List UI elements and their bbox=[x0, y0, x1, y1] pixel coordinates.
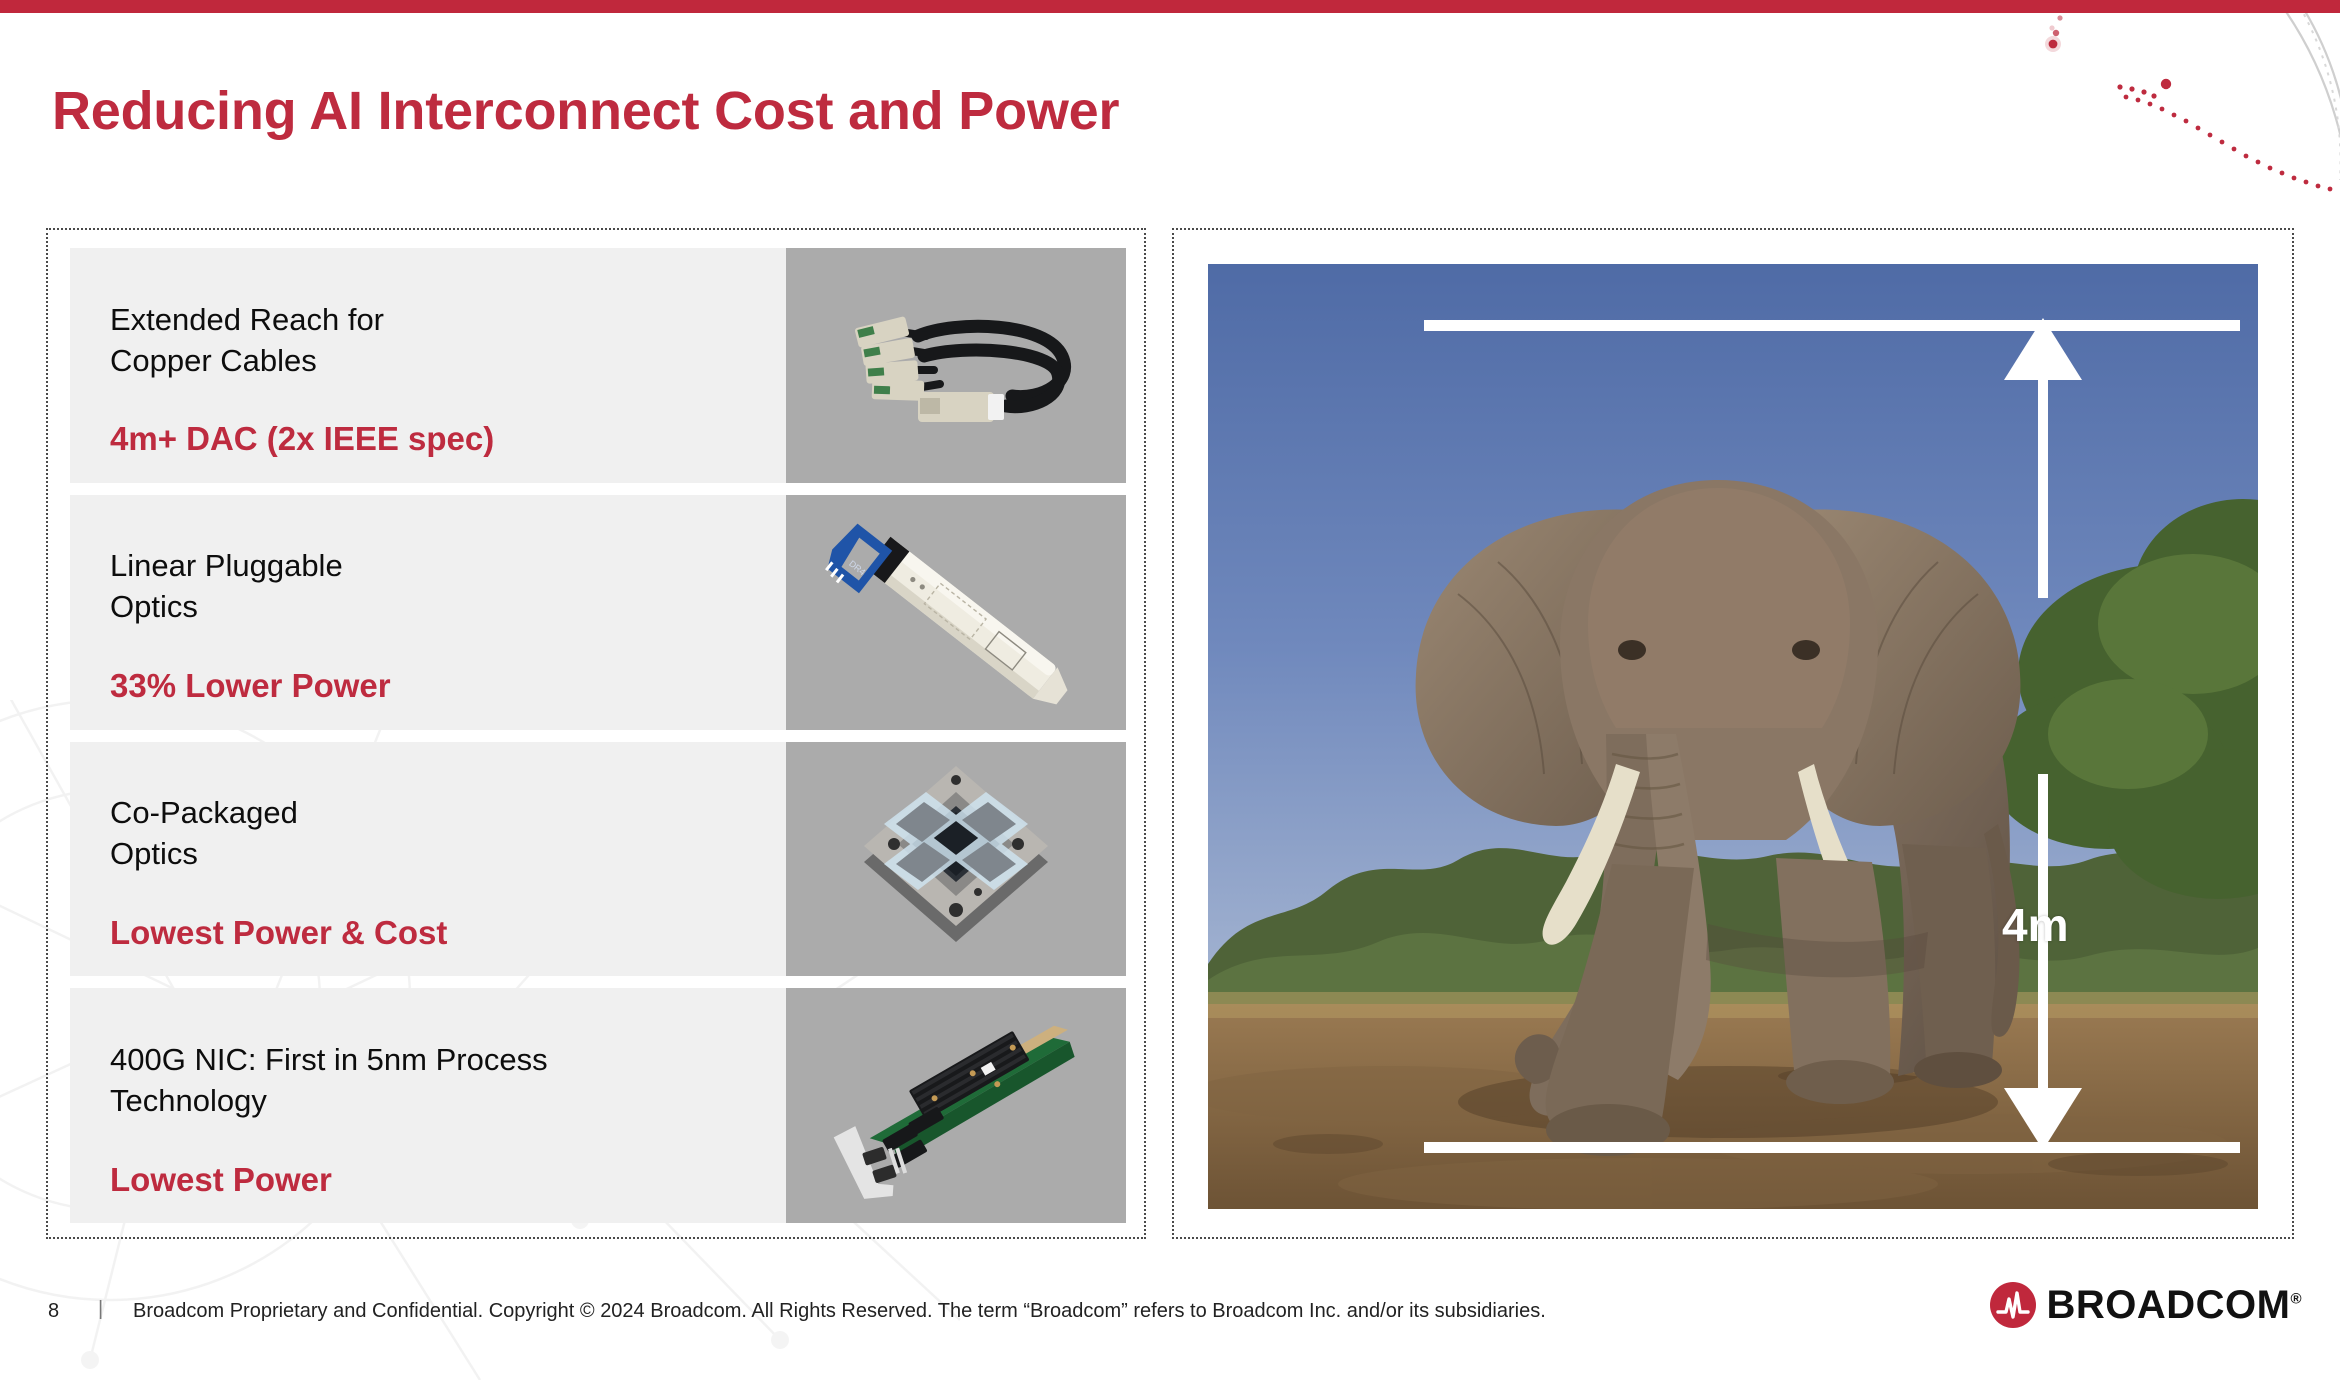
technology-card-list: Extended Reach for Copper Cables 4m+ DAC… bbox=[70, 248, 1126, 1223]
african-elephant-photo bbox=[1208, 264, 2258, 1209]
card-linear-pluggable-optics[interactable]: Linear Pluggable Optics 33% Lower Power bbox=[70, 495, 1126, 730]
card-text-block: 400G NIC: First in 5nm Process Technolog… bbox=[70, 988, 786, 1223]
broadcom-wordmark: BROADCOM® bbox=[2046, 1285, 2302, 1325]
technology-cards-panel: Extended Reach for Copper Cables 4m+ DAC… bbox=[46, 228, 1146, 1239]
card-text-block: Linear Pluggable Optics 33% Lower Power bbox=[70, 495, 786, 730]
card-highlight: Lowest Power & Cost bbox=[110, 913, 786, 953]
copyright-notice: Broadcom Proprietary and Confidential. C… bbox=[133, 1300, 1546, 1323]
card-highlight: 4m+ DAC (2x IEEE spec) bbox=[110, 419, 786, 459]
co-packaged-optics-module-photo bbox=[786, 742, 1126, 977]
page-number: 8 bbox=[48, 1300, 59, 1323]
elephant-scale-panel: 4m bbox=[1172, 228, 2294, 1239]
400g-nic-pcie-card-photo bbox=[786, 988, 1126, 1223]
card-heading-line2: Optics bbox=[110, 836, 198, 871]
dimension-label-4m: 4m bbox=[2002, 898, 2068, 952]
qsfp-pluggable-optical-module-photo: DR4 bbox=[786, 495, 1126, 730]
slide-title: Reducing AI Interconnect Cost and Power bbox=[52, 80, 1119, 142]
card-heading: 400G NIC: First in 5nm Process Technolog… bbox=[110, 1040, 786, 1122]
broadcom-pulse-icon bbox=[1990, 1282, 2036, 1328]
card-heading: Extended Reach for Copper Cables bbox=[110, 300, 786, 382]
card-heading: Co-Packaged Optics bbox=[110, 793, 786, 875]
card-heading-line2: Copper Cables bbox=[110, 343, 317, 378]
broadcom-logo: BROADCOM® bbox=[1990, 1282, 2302, 1328]
card-extended-reach-copper[interactable]: Extended Reach for Copper Cables 4m+ DAC… bbox=[70, 248, 1126, 483]
dac-breakout-copper-cable-photo bbox=[786, 248, 1126, 483]
card-highlight: 33% Lower Power bbox=[110, 666, 786, 706]
card-heading-line1: Linear Pluggable bbox=[110, 548, 343, 583]
card-400g-nic[interactable]: 400G NIC: First in 5nm Process Technolog… bbox=[70, 988, 1126, 1223]
card-heading: Linear Pluggable Optics bbox=[110, 546, 786, 628]
slide-footer: 8 | Broadcom Proprietary and Confidentia… bbox=[0, 1296, 2340, 1342]
card-co-packaged-optics[interactable]: Co-Packaged Optics Lowest Power & Cost bbox=[70, 742, 1126, 977]
card-heading-line1: 400G NIC: First in 5nm Process bbox=[110, 1042, 548, 1077]
card-heading-line1: Extended Reach for bbox=[110, 302, 384, 337]
card-heading-line2: Technology bbox=[110, 1083, 267, 1118]
registered-mark: ® bbox=[2290, 1291, 2302, 1308]
footer-separator: | bbox=[98, 1298, 103, 1321]
broadcom-wordmark-text: BROADCOM bbox=[2046, 1283, 2290, 1327]
card-heading-line1: Co-Packaged bbox=[110, 795, 298, 830]
top-accent-bar bbox=[0, 0, 2340, 13]
card-text-block: Extended Reach for Copper Cables 4m+ DAC… bbox=[70, 248, 786, 483]
card-highlight: Lowest Power bbox=[110, 1160, 786, 1200]
card-text-block: Co-Packaged Optics Lowest Power & Cost bbox=[70, 742, 786, 977]
card-heading-line2: Optics bbox=[110, 589, 198, 624]
